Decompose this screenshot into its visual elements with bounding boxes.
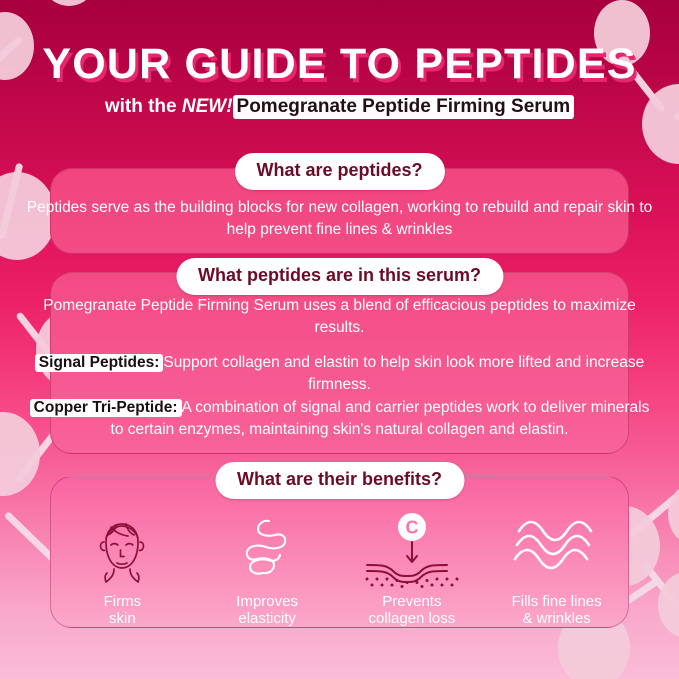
benefit-line2: skin [109, 610, 136, 627]
card2-intro-text: Pomegranate Peptide Firming Serum uses a… [0, 295, 679, 339]
card2-signal-peptides: Signal Peptides:Support collagen and ela… [0, 352, 679, 396]
copper-tripeptide-text: A combination of signal and carrier pept… [111, 399, 650, 438]
subtitle-product-name: Pomegranate Peptide Firming Serum [233, 95, 575, 119]
subtitle-prefix: with the [105, 96, 182, 117]
copper-tripeptide-label: Copper Tri-Peptide: [30, 399, 182, 417]
benefit-caption: Prevents collagen loss [369, 594, 456, 628]
benefit-line1: Prevents [382, 593, 441, 610]
svg-text:C: C [405, 518, 418, 538]
benefit-line2: elasticity [238, 610, 296, 627]
molecule-node [658, 572, 679, 638]
pill-peptides-in-serum: What peptides are in this serum? [176, 258, 503, 295]
benefit-line1: Improves [236, 593, 298, 610]
card1-body-text: Peptides serve as the building blocks fo… [0, 197, 679, 241]
signal-peptides-text: Support collagen and elastin to help ski… [163, 354, 644, 393]
molecule-link [641, 561, 679, 614]
benefit-line1: Firms [104, 593, 142, 610]
page-title: YOUR GUIDE TO PEPTIDES [0, 40, 679, 89]
molecule-node [38, 0, 100, 6]
benefit-line1: Fills fine lines [512, 593, 602, 610]
benefit-firms-skin: Firms skin [52, 496, 192, 628]
card2-copper-tripeptide: Copper Tri-Peptide:A combination of sign… [0, 397, 679, 441]
benefit-fills-fine-lines: Fills fine lines & wrinkles [487, 496, 627, 628]
collagen-skin-layer-icon: C [357, 511, 467, 589]
signal-peptides-label: Signal Peptides: [35, 354, 164, 372]
benefits-row: Firms skin Improves elasticity [50, 496, 629, 628]
molecule-link [628, 493, 679, 538]
benefit-caption: Improves elasticity [236, 594, 298, 628]
benefit-prevents-collagen-loss: C [342, 496, 482, 628]
benefit-line2: collagen loss [369, 610, 456, 627]
pill-what-are-peptides: What are peptides? [234, 153, 444, 190]
subtitle: with the NEW!Pomegranate Peptide Firming… [0, 96, 679, 118]
molecule-node [668, 482, 679, 546]
benefit-line2: & wrinkles [522, 610, 590, 627]
wavy-lines-icon [511, 511, 603, 589]
benefit-caption: Firms skin [104, 594, 142, 628]
spring-coil-icon [229, 511, 305, 589]
benefit-improves-elasticity: Improves elasticity [197, 496, 337, 628]
pill-benefits: What are their benefits? [215, 462, 464, 499]
benefit-caption: Fills fine lines & wrinkles [512, 594, 602, 628]
subtitle-new-badge: NEW! [182, 96, 233, 117]
face-firming-icon [84, 511, 160, 589]
infographic-poster: YOUR GUIDE TO PEPTIDES with the NEW!Pome… [0, 0, 679, 679]
